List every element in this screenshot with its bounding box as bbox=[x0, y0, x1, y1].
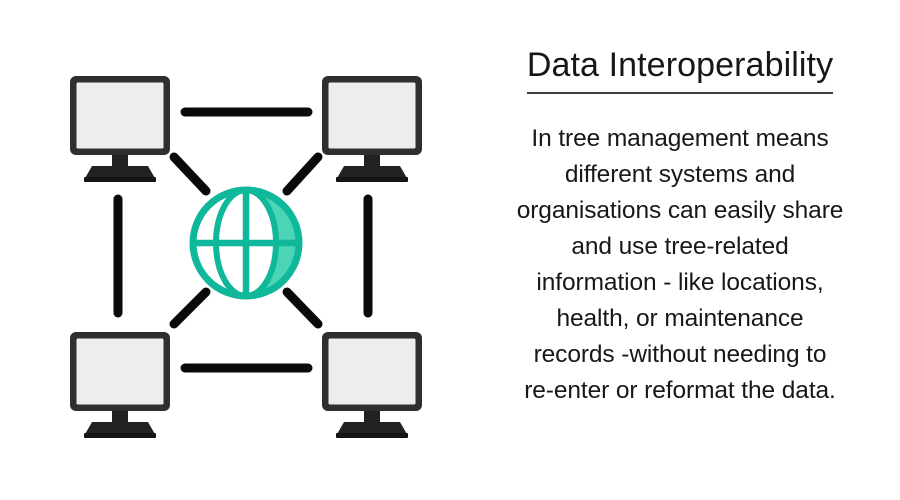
body-line: re-enter or reformat the data. bbox=[480, 373, 880, 409]
body-line: organisations can easily share bbox=[480, 193, 880, 229]
body-line: health, or maintenance bbox=[480, 301, 880, 337]
title-underline bbox=[527, 92, 833, 94]
body-line: and use tree-related bbox=[480, 229, 880, 265]
monitor-top-left[interactable] bbox=[70, 76, 170, 182]
body-line: In tree management means bbox=[480, 121, 880, 157]
slide-canvas: Data Interoperability In tree management… bbox=[0, 0, 900, 500]
monitor-top-right[interactable] bbox=[322, 76, 422, 182]
diagram-panel bbox=[0, 0, 460, 500]
spoke-bottom-left-icon bbox=[174, 292, 206, 324]
network-diagram bbox=[0, 0, 460, 500]
text-panel: Data Interoperability In tree management… bbox=[460, 0, 900, 500]
page-title: Data Interoperability bbox=[527, 46, 833, 85]
monitor-bottom-right[interactable] bbox=[322, 332, 422, 438]
spoke-top-left-icon bbox=[174, 157, 206, 191]
globe-icon[interactable] bbox=[193, 190, 299, 296]
body-line: information - like locations, bbox=[480, 265, 880, 301]
spoke-bottom-right-icon bbox=[287, 292, 318, 324]
monitor-bottom-left[interactable] bbox=[70, 332, 170, 438]
body-line: different systems and bbox=[480, 157, 880, 193]
spoke-top-right-icon bbox=[287, 157, 318, 191]
title-block: Data Interoperability bbox=[527, 46, 833, 94]
body-line: records -without needing to bbox=[480, 337, 880, 373]
body-paragraph: In tree management means different syste… bbox=[480, 121, 880, 409]
